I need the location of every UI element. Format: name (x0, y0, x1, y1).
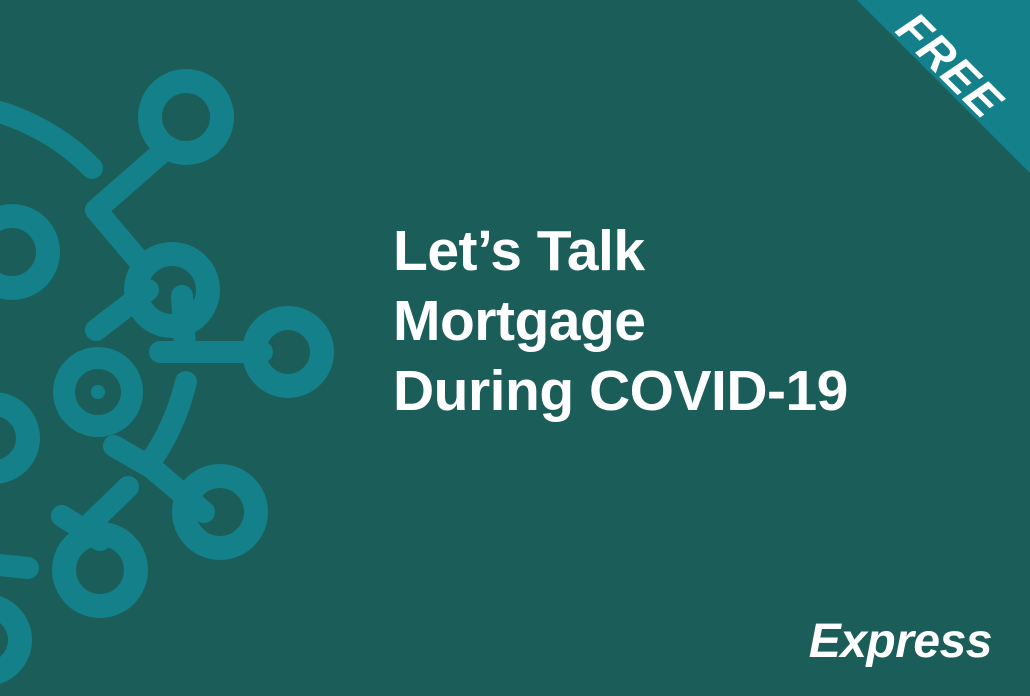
title-line-1: Let’s Talk (393, 216, 848, 286)
virus-molecule-illustration (0, 0, 360, 696)
promo-banner-card: FREE Let’s Talk Mortgage During COVID-19… (0, 0, 1030, 696)
title-line-3: During COVID-19 (393, 356, 848, 426)
title-line-2: Mortgage (393, 286, 848, 356)
page-title: Let’s Talk Mortgage During COVID-19 (393, 216, 848, 426)
brand-wordmark: Express (809, 618, 992, 666)
corner-ribbon: FREE (830, 0, 1030, 200)
